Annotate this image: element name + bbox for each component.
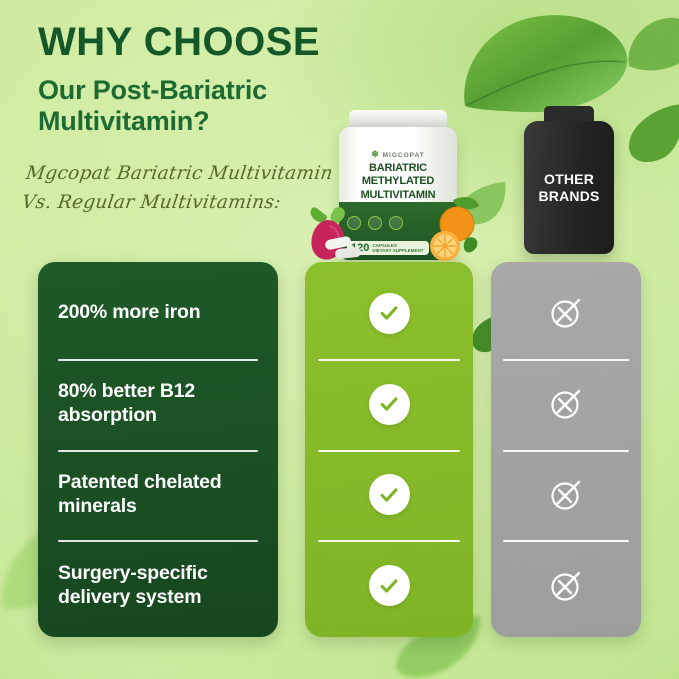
other-mark-row — [491, 359, 641, 450]
other-brands-column — [491, 262, 641, 637]
other-label-line-2: BRANDS — [538, 188, 599, 204]
subtitle-line-1: Our Post-Bariatric — [38, 75, 267, 105]
our-mark-row — [305, 450, 473, 541]
subtitle-line-2: Multivitamin? — [38, 106, 209, 136]
leaf-logo-icon: ❄ — [371, 149, 380, 159]
bottle-title-line-1: BARIATRIC — [369, 162, 427, 174]
x-circle-icon — [546, 565, 587, 606]
our-mark-row — [305, 268, 473, 359]
feature-label: Patented chelated minerals — [58, 471, 258, 519]
x-circle-icon — [546, 474, 587, 515]
other-brands-bottle: OTHER BRANDS — [524, 106, 614, 254]
other-mark-row — [491, 268, 641, 359]
cert-icon-2 — [368, 216, 382, 230]
other-brands-rows — [491, 262, 641, 637]
check-icon — [369, 384, 410, 425]
script-line-2: Vs. Regular Multivitamins: — [20, 189, 354, 218]
other-mark-row — [491, 540, 641, 631]
x-circle-icon — [546, 293, 587, 334]
other-bottle-label: OTHER BRANDS — [538, 171, 599, 204]
feature-row: 200% more iron — [38, 268, 278, 359]
other-label-line-1: OTHER — [544, 171, 594, 187]
brand-logo: ❄ MIGCOPAT — [339, 149, 457, 160]
check-icon — [369, 293, 410, 334]
features-rows: 200% more iron 80% better B12 absorption… — [38, 262, 278, 637]
check-icon — [369, 474, 410, 515]
bottle-title-line-2: METHYLATED — [362, 175, 434, 187]
our-mark-row — [305, 540, 473, 631]
feature-label: Surgery-specific delivery system — [58, 562, 258, 610]
capsule-unit: CAPSULES DIETARY SUPPLEMENT — [372, 243, 423, 254]
feature-row: Patented chelated minerals — [38, 450, 278, 541]
feature-label: 80% better B12 absorption — [58, 380, 258, 428]
brand-name: MIGCOPAT — [383, 152, 425, 159]
check-icon — [369, 565, 410, 606]
feature-label: 200% more iron — [58, 301, 200, 325]
feature-row: Surgery-specific delivery system — [38, 540, 278, 631]
our-product-column — [305, 262, 473, 637]
script-line-1: Mgcopat Bariatric Multivitamin — [24, 160, 358, 189]
other-mark-row — [491, 450, 641, 541]
our-mark-row — [305, 359, 473, 450]
our-product-rows — [305, 262, 473, 637]
other-bottle-body: OTHER BRANDS — [524, 121, 614, 254]
cert-icon-3 — [389, 216, 403, 230]
feature-row: 80% better B12 absorption — [38, 359, 278, 450]
x-circle-icon — [546, 384, 587, 425]
product-bottle: ❄ MIGCOPAT BARIATRIC METHYLATED MULTIVIT… — [327, 110, 469, 262]
orange-fruit-icon — [423, 194, 481, 269]
features-panel: 200% more iron 80% better B12 absorption… — [38, 262, 278, 637]
page-title: WHY CHOOSE — [38, 22, 438, 62]
